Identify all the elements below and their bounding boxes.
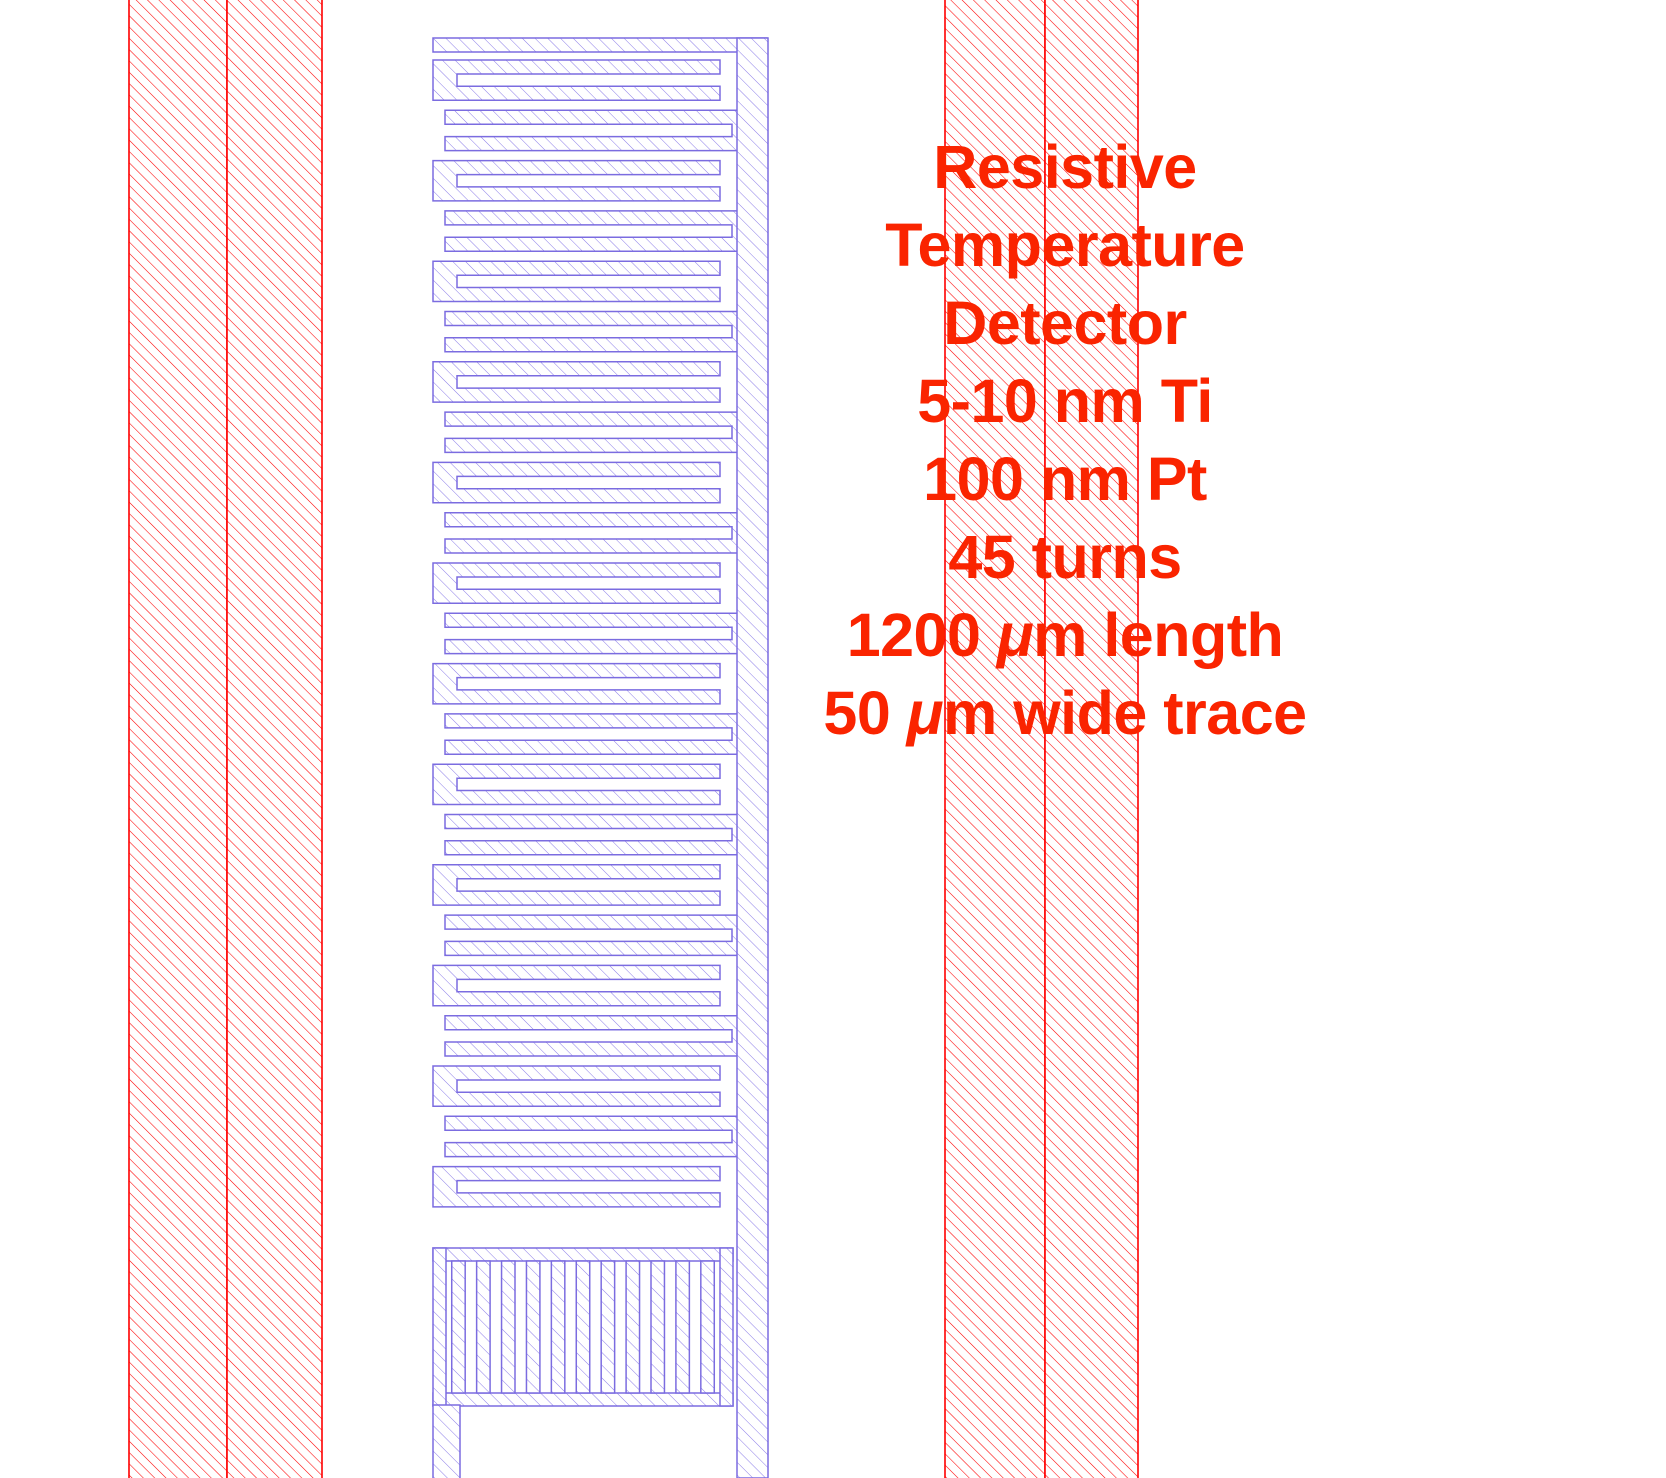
meander-segment bbox=[433, 563, 720, 603]
meander-segment bbox=[433, 60, 720, 100]
pad-fill-finger bbox=[502, 1261, 515, 1393]
layout-drawing bbox=[0, 0, 1666, 1478]
pad-fill-finger bbox=[477, 1261, 490, 1393]
meander-segment bbox=[445, 211, 756, 251]
pad-fill-finger bbox=[452, 1261, 465, 1393]
lead-out-tail bbox=[433, 1405, 460, 1478]
meander-segment bbox=[433, 38, 767, 52]
meander-segment bbox=[433, 462, 720, 502]
meander-segment bbox=[445, 815, 756, 855]
meander-segment bbox=[433, 261, 720, 301]
pad-fill-finger bbox=[651, 1261, 664, 1393]
meander-segment bbox=[445, 1116, 756, 1156]
meander-segment bbox=[445, 412, 756, 452]
pad-right-rail bbox=[720, 1248, 733, 1406]
meander-segment bbox=[445, 1016, 756, 1056]
meander-segment bbox=[445, 110, 756, 150]
guard-band-left bbox=[129, 0, 322, 1478]
pad-left-rail bbox=[433, 1248, 446, 1406]
meander-segment bbox=[445, 915, 756, 955]
meander-segment bbox=[433, 764, 720, 804]
cad-layout-canvas: Resistive Temperature Detector 5-10 nm T… bbox=[0, 0, 1666, 1478]
meander-segment bbox=[433, 1066, 720, 1106]
meander-segment bbox=[433, 161, 720, 201]
meander-segment bbox=[445, 714, 756, 754]
meander-segment bbox=[433, 1167, 720, 1207]
pad-fill-finger bbox=[526, 1261, 539, 1393]
resistive-meander-trace bbox=[433, 38, 767, 1207]
pad-fill-finger bbox=[576, 1261, 589, 1393]
meander-segment bbox=[433, 865, 720, 905]
pad-bottom-rail bbox=[433, 1393, 733, 1406]
meander-segment bbox=[433, 965, 720, 1005]
pad-fill-finger bbox=[626, 1261, 639, 1393]
guard-band-right bbox=[945, 0, 1138, 1478]
pad-fill-finger bbox=[601, 1261, 614, 1393]
pad-fill-finger bbox=[676, 1261, 689, 1393]
meander-segment bbox=[445, 613, 756, 653]
pad-top-rail bbox=[433, 1248, 733, 1261]
right-bus-bar bbox=[737, 38, 768, 1478]
pad-fill-finger bbox=[701, 1261, 714, 1393]
meander-segment bbox=[445, 312, 756, 352]
bottom-contact-pad bbox=[433, 1248, 733, 1406]
meander-segment bbox=[433, 362, 720, 402]
meander-segment bbox=[445, 513, 756, 553]
meander-segment bbox=[433, 664, 720, 704]
pad-fill-finger bbox=[551, 1261, 564, 1393]
